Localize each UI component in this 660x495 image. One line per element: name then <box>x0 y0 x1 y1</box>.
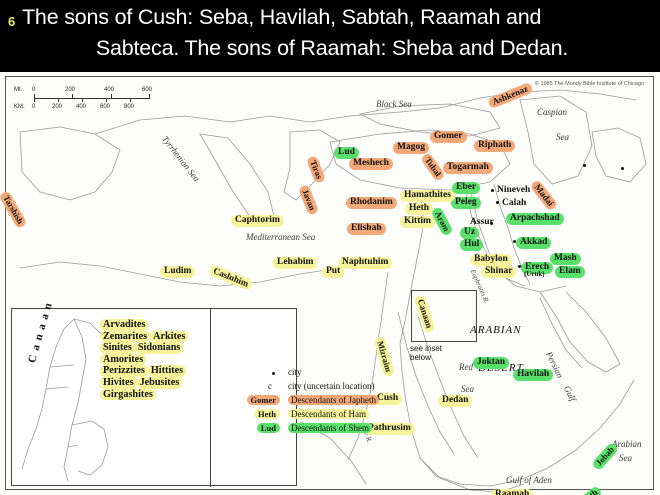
map-label-caphtorim: Caphtorim <box>231 215 284 227</box>
legend-description: Descendants of Shem <box>288 423 372 433</box>
map-label-lehabim: Lehabim <box>273 257 317 269</box>
copyright-notice: © 1985 The Moody Bible Institute of Chic… <box>535 81 644 87</box>
map-label-elishah: Elishah <box>347 223 386 235</box>
scale-mi-tick-3: 600 <box>142 87 152 93</box>
map-label-naphtuhim: Naphtuhim <box>338 257 392 269</box>
map-label-togarmah: Togarmah <box>443 162 493 174</box>
scale-mi-tick-0: 0 <box>32 87 35 93</box>
legend-description: Descendants of Ham <box>288 409 369 419</box>
map-label-rhodanim: Rhodanim <box>346 197 397 209</box>
canaan-people-item: Arkites <box>150 331 188 343</box>
map-label-havilah: Havilah <box>513 369 553 381</box>
region-label: ARABIAN <box>470 324 522 336</box>
map-label-akkad: Akkad <box>516 237 551 249</box>
city-dot <box>491 189 494 192</box>
legend-key-sample: Heth <box>224 409 280 419</box>
sea-label: Sea <box>619 453 632 463</box>
inset-reference-box <box>411 290 477 342</box>
sea-label: Caspian <box>537 107 567 117</box>
map-label-magog: Magog <box>393 142 429 154</box>
canaan-people-item: Hittites <box>148 365 186 377</box>
map-label-uz: Uz <box>460 227 479 239</box>
legend-description: Descendants of Japheth <box>288 395 379 405</box>
map-image: MI. KM. 0 200 400 600 0 200 400 600 800 … <box>0 72 660 495</box>
canaan-people-item: Zemarites <box>100 331 150 343</box>
legend-row: HethDescendants of Ham <box>224 409 492 423</box>
map-label-gomer: Gomer <box>430 131 467 143</box>
scale-mi-tick-2: 400 <box>104 87 114 93</box>
map-label-lud: Lud <box>334 147 359 159</box>
map-label-shinar: Shinar <box>481 266 516 278</box>
canaan-peoples-list: ArvaditesZemaritesArkitesSinitesSidonian… <box>100 319 192 400</box>
scale-mi-tick-1: 200 <box>65 87 75 93</box>
see-inset-line: below <box>410 353 442 362</box>
map-label-peleg: Peleg <box>451 197 481 209</box>
map-label-meshech: Meshech <box>349 158 393 170</box>
map-label-heth: Heth <box>405 203 433 215</box>
legend-city-dot-icon <box>272 372 275 375</box>
see-inset-line: see inset <box>410 344 442 353</box>
map-label-eber: Eber <box>452 182 480 194</box>
legend-key-sample: Lud <box>224 423 280 433</box>
scale-km-label: KM. <box>14 104 25 110</box>
scale-km-tick-1: 200 <box>52 104 62 110</box>
legend-row: LudDescendants of Shem <box>224 423 492 437</box>
legend-description-text: Descendants of Shem <box>288 423 372 433</box>
map-label-hul: Hul <box>460 239 483 251</box>
canaan-people-item: Jebusites <box>137 377 183 389</box>
legend-key-text: Heth <box>254 409 280 419</box>
legend-description-text: Descendants of Japheth <box>288 395 379 405</box>
map-label-raamah: Raamah <box>491 489 533 495</box>
legend-key-sample: Gomer <box>224 395 280 405</box>
sea-label: Gulf of Aden <box>506 475 552 485</box>
map-label-ludim: Ludim <box>160 266 195 278</box>
map-label-babylon: Babylon <box>470 254 512 266</box>
legend-description-text: city (uncertain location) <box>288 381 374 391</box>
map-label-riphath: Riphath <box>474 140 515 152</box>
canaan-people-item: Perizzites <box>100 365 148 377</box>
city-dot <box>583 164 586 167</box>
scale-km-tick-3: 600 <box>100 104 110 110</box>
map-label-hamathites: Hamathites <box>400 190 455 202</box>
map-label-uruk: (Uruk) <box>524 271 545 278</box>
city-dot <box>621 167 624 170</box>
canaan-inset-panel: Canaan ArvaditesZemaritesArkitesSinitesS… <box>11 308 297 486</box>
map-label-elam: Elam <box>555 266 585 278</box>
legend-row: city <box>224 367 492 381</box>
canaan-people-item: Sinites <box>100 342 135 354</box>
scale-km-tick-4: 800 <box>124 104 134 110</box>
canaan-people-item: Hivites <box>100 377 137 389</box>
map-scale-bar: MI. KM. 0 200 400 600 0 200 400 600 800 <box>14 82 164 116</box>
verse-header: 6 The sons of Cush: Seba, Havilah, Sabta… <box>0 0 660 72</box>
verse-text-line2: Sabteca. The sons of Raamah: Sheba and D… <box>22 36 642 61</box>
canaan-people-item: Girgashites <box>100 389 156 401</box>
legend-description-text: Descendants of Ham <box>288 409 369 419</box>
map-legend: cityccity (uncertain location)GomerDesce… <box>224 367 492 437</box>
map-label-kittim: Kittim <box>400 216 435 228</box>
legend-key-text: Lud <box>257 423 280 433</box>
map-label-mash: Mash <box>550 253 581 265</box>
slide-root: 6 The sons of Cush: Seba, Havilah, Sabta… <box>0 0 660 495</box>
legend-description: city (uncertain location) <box>288 381 374 391</box>
map-label-calah: Calah <box>502 199 526 209</box>
legend-row: ccity (uncertain location) <box>224 381 492 395</box>
sea-label: Mediterranean Sea <box>246 232 315 242</box>
sea-label: Sea <box>556 132 569 142</box>
sea-label: Black Sea <box>376 99 412 109</box>
inset-divider <box>210 309 211 487</box>
canaan-people-item: Amorites <box>100 354 146 366</box>
scale-mi-label: MI. <box>14 87 22 93</box>
canaan-people-item: Sidonians <box>135 342 183 354</box>
map-label-arpachshad: Arpachshad <box>506 213 564 225</box>
legend-description-text: city <box>288 367 302 377</box>
scale-km-tick-0: 0 <box>32 104 35 110</box>
verse-number: 6 <box>8 14 15 29</box>
verse-text-line1: The sons of Cush: Seba, Havilah, Sabtah,… <box>22 5 652 30</box>
legend-description: city <box>288 367 302 377</box>
city-dot <box>496 201 499 204</box>
legend-key-text: Gomer <box>247 395 281 405</box>
legend-uncertain-city-icon: c <box>268 381 272 391</box>
legend-row: GomerDescendants of Japheth <box>224 395 492 409</box>
see-inset-note: see insetbelow <box>410 344 442 362</box>
map-label-nineveh: Nineveh <box>497 186 530 196</box>
canaan-people-item: Arvadites <box>100 319 148 331</box>
scale-km-tick-2: 400 <box>76 104 86 110</box>
